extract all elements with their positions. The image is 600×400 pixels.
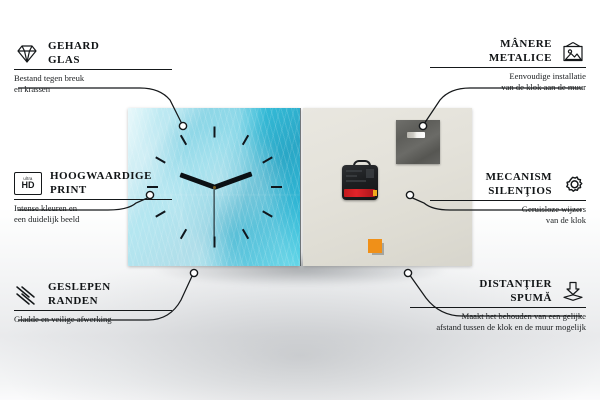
feature-subtitle: van de klok [430,215,586,226]
quartz-mechanism-box [342,165,378,200]
feature-hoogwaardige-print: ultra HD HOOGWAARDIGE PRINT Intense kleu… [14,170,172,225]
feature-title: HOOGWAARDIGE PRINT [50,170,152,197]
gear-icon [560,174,586,196]
wall-hanger-icon [560,41,586,63]
feature-subtitle: Gladde en veilige afwerking [14,314,172,325]
feature-geslepen-randen: GESLEPEN RANDEN Gladde en veilige afwerk… [14,281,172,325]
feature-title: GEHARD GLAS [48,40,99,67]
divider [14,310,172,311]
infographic-canvas: GEHARD GLAS Bestand tegen breuk en krass… [0,0,600,400]
feature-subtitle: afstand tussen de klok en de muur mogeli… [410,322,586,333]
ultra-hd-icon: ultra HD [14,172,42,195]
spacer-stack-icon [560,281,586,303]
feature-heading: GESLEPEN RANDEN [14,281,172,308]
product-image [128,108,472,268]
feature-distantier-spuma: DISTANŢIER SPUMĂ Maakt het behouden van … [410,278,586,333]
feature-heading: MECANISM SILENŢIOS [430,171,586,198]
feature-mecanism-silentios: MECANISM SILENŢIOS Geruisloze wijzers va… [430,171,586,226]
hour-marker [271,186,282,188]
divider [14,69,172,70]
feature-gehard-glas: GEHARD GLAS Bestand tegen breuk en krass… [14,40,172,95]
feature-subtitle: Bestand tegen breuk [14,73,172,84]
feature-subtitle: Eenvoudige installatie [430,71,586,82]
feature-subtitle: Maakt het behouden van een gelijke [410,311,586,322]
diamond-icon [14,43,40,65]
mechanism-detail [366,169,374,178]
beveled-edges-icon [14,284,40,306]
foam-spacer [368,239,382,253]
feature-heading: DISTANŢIER SPUMĂ [410,278,586,305]
mechanism-detail [346,170,362,172]
feature-subtitle: Intense kleuren en [14,203,172,214]
divider [430,67,586,68]
battery [344,189,375,197]
mechanism-detail [346,180,366,182]
feature-heading: GEHARD GLAS [14,40,172,67]
feature-heading: ultra HD HOOGWAARDIGE PRINT [14,170,172,197]
divider [410,307,586,308]
feature-manere-metalice: MÂNERE METALICE Eenvoudige installatie v… [430,38,586,93]
feature-heading: MÂNERE METALICE [430,38,586,65]
feature-title: MÂNERE METALICE [489,38,552,65]
second-hand [213,187,214,241]
feature-title: GESLEPEN RANDEN [48,281,111,308]
divider [430,200,586,201]
divider [14,199,172,200]
metal-hanger-plate [396,120,440,164]
mechanism-detail [346,175,357,177]
feature-subtitle: een duidelijk beeld [14,214,172,225]
center-cap [213,186,216,189]
feature-subtitle: en krassen [14,84,172,95]
feature-title: DISTANŢIER SPUMĂ [479,278,552,305]
hour-marker [213,127,215,138]
feature-title: MECANISM SILENŢIOS [486,171,552,198]
feature-subtitle: Geruisloze wijzers [430,204,586,215]
feature-subtitle: van de klok aan de muur [430,82,586,93]
